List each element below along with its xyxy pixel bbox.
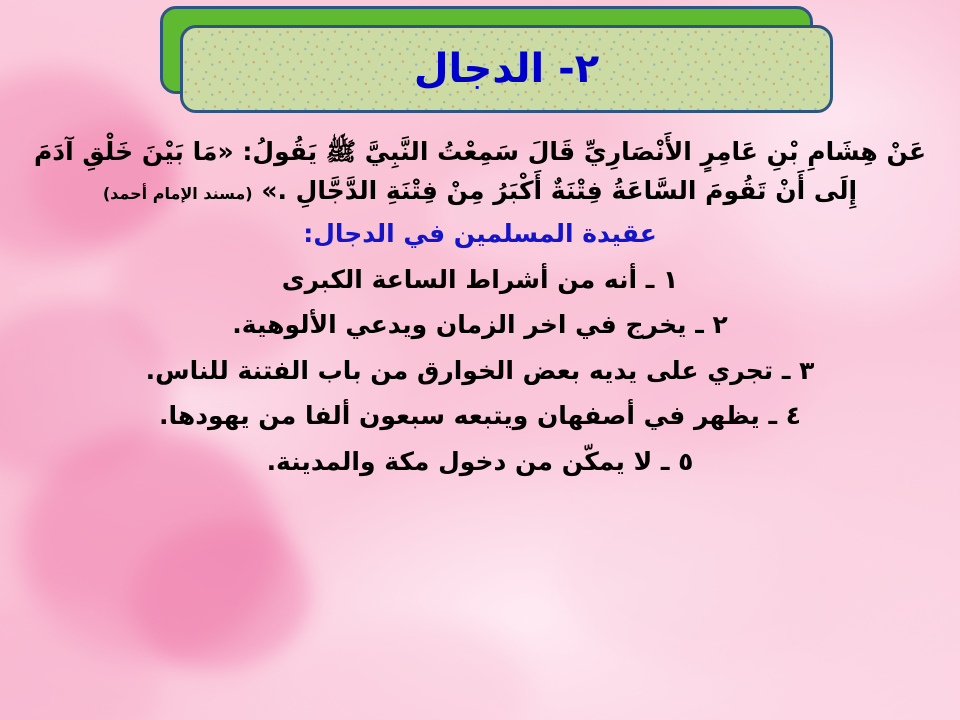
list-item: ١ ـ أنه من أشراط الساعة الكبرى bbox=[0, 257, 960, 303]
list-item: ٣ ـ تجري على يديه بعض الخوارق من باب الف… bbox=[0, 348, 960, 394]
list-item-label: لا يمكّن من دخول مكة والمدينة. bbox=[267, 447, 653, 476]
section-subheading: عقيدة المسلمين في الدجال: bbox=[0, 218, 960, 251]
hadith-line-3: الدَّجَّالِ .» bbox=[261, 176, 377, 205]
list-item: ٢ ـ يخرج في اخر الزمان ويدعي الألوهية. bbox=[0, 302, 960, 348]
list-item-label: تجري على يديه بعض الخوارق من باب الفتنة … bbox=[146, 356, 774, 385]
hadith-line-1: عَنْ هِشَامِ بْنِ عَامِرٍ الأَنْصَارِيِّ… bbox=[242, 137, 926, 166]
slide-canvas: ٢- الدجال عَنْ هِشَامِ بْنِ عَامِرٍ الأَ… bbox=[0, 0, 960, 720]
slide-body: عَنْ هِشَامِ بْنِ عَامِرٍ الأَنْصَارِيِّ… bbox=[0, 132, 960, 484]
list-item-label: أنه من أشراط الساعة الكبرى bbox=[282, 265, 637, 294]
list-item-marker: ٣ ـ bbox=[782, 356, 815, 385]
list-item-label: يظهر في أصفهان ويتبعه سبعون ألفا من يهود… bbox=[159, 401, 760, 430]
page-title: ٢- الدجال bbox=[414, 49, 599, 89]
title-banner: ٢- الدجال bbox=[180, 25, 833, 113]
list-item: ٥ ـ لا يمكّن من دخول مكة والمدينة. bbox=[0, 439, 960, 485]
list-item-marker: ١ ـ bbox=[646, 265, 679, 294]
belief-points-list: ١ ـ أنه من أشراط الساعة الكبرى ٢ ـ يخرج … bbox=[0, 257, 960, 485]
hadith-text: عَنْ هِشَامِ بْنِ عَامِرٍ الأَنْصَارِيِّ… bbox=[28, 132, 932, 210]
hadith-source: (مسند الإمام أحمد) bbox=[103, 184, 253, 203]
list-item-marker: ٥ ـ bbox=[661, 447, 694, 476]
list-item-label: يخرج في اخر الزمان ويدعي الألوهية. bbox=[232, 310, 686, 339]
list-item: ٤ ـ يظهر في أصفهان ويتبعه سبعون ألفا من … bbox=[0, 393, 960, 439]
list-item-marker: ٤ ـ bbox=[768, 401, 801, 430]
list-item-marker: ٢ ـ bbox=[695, 310, 728, 339]
